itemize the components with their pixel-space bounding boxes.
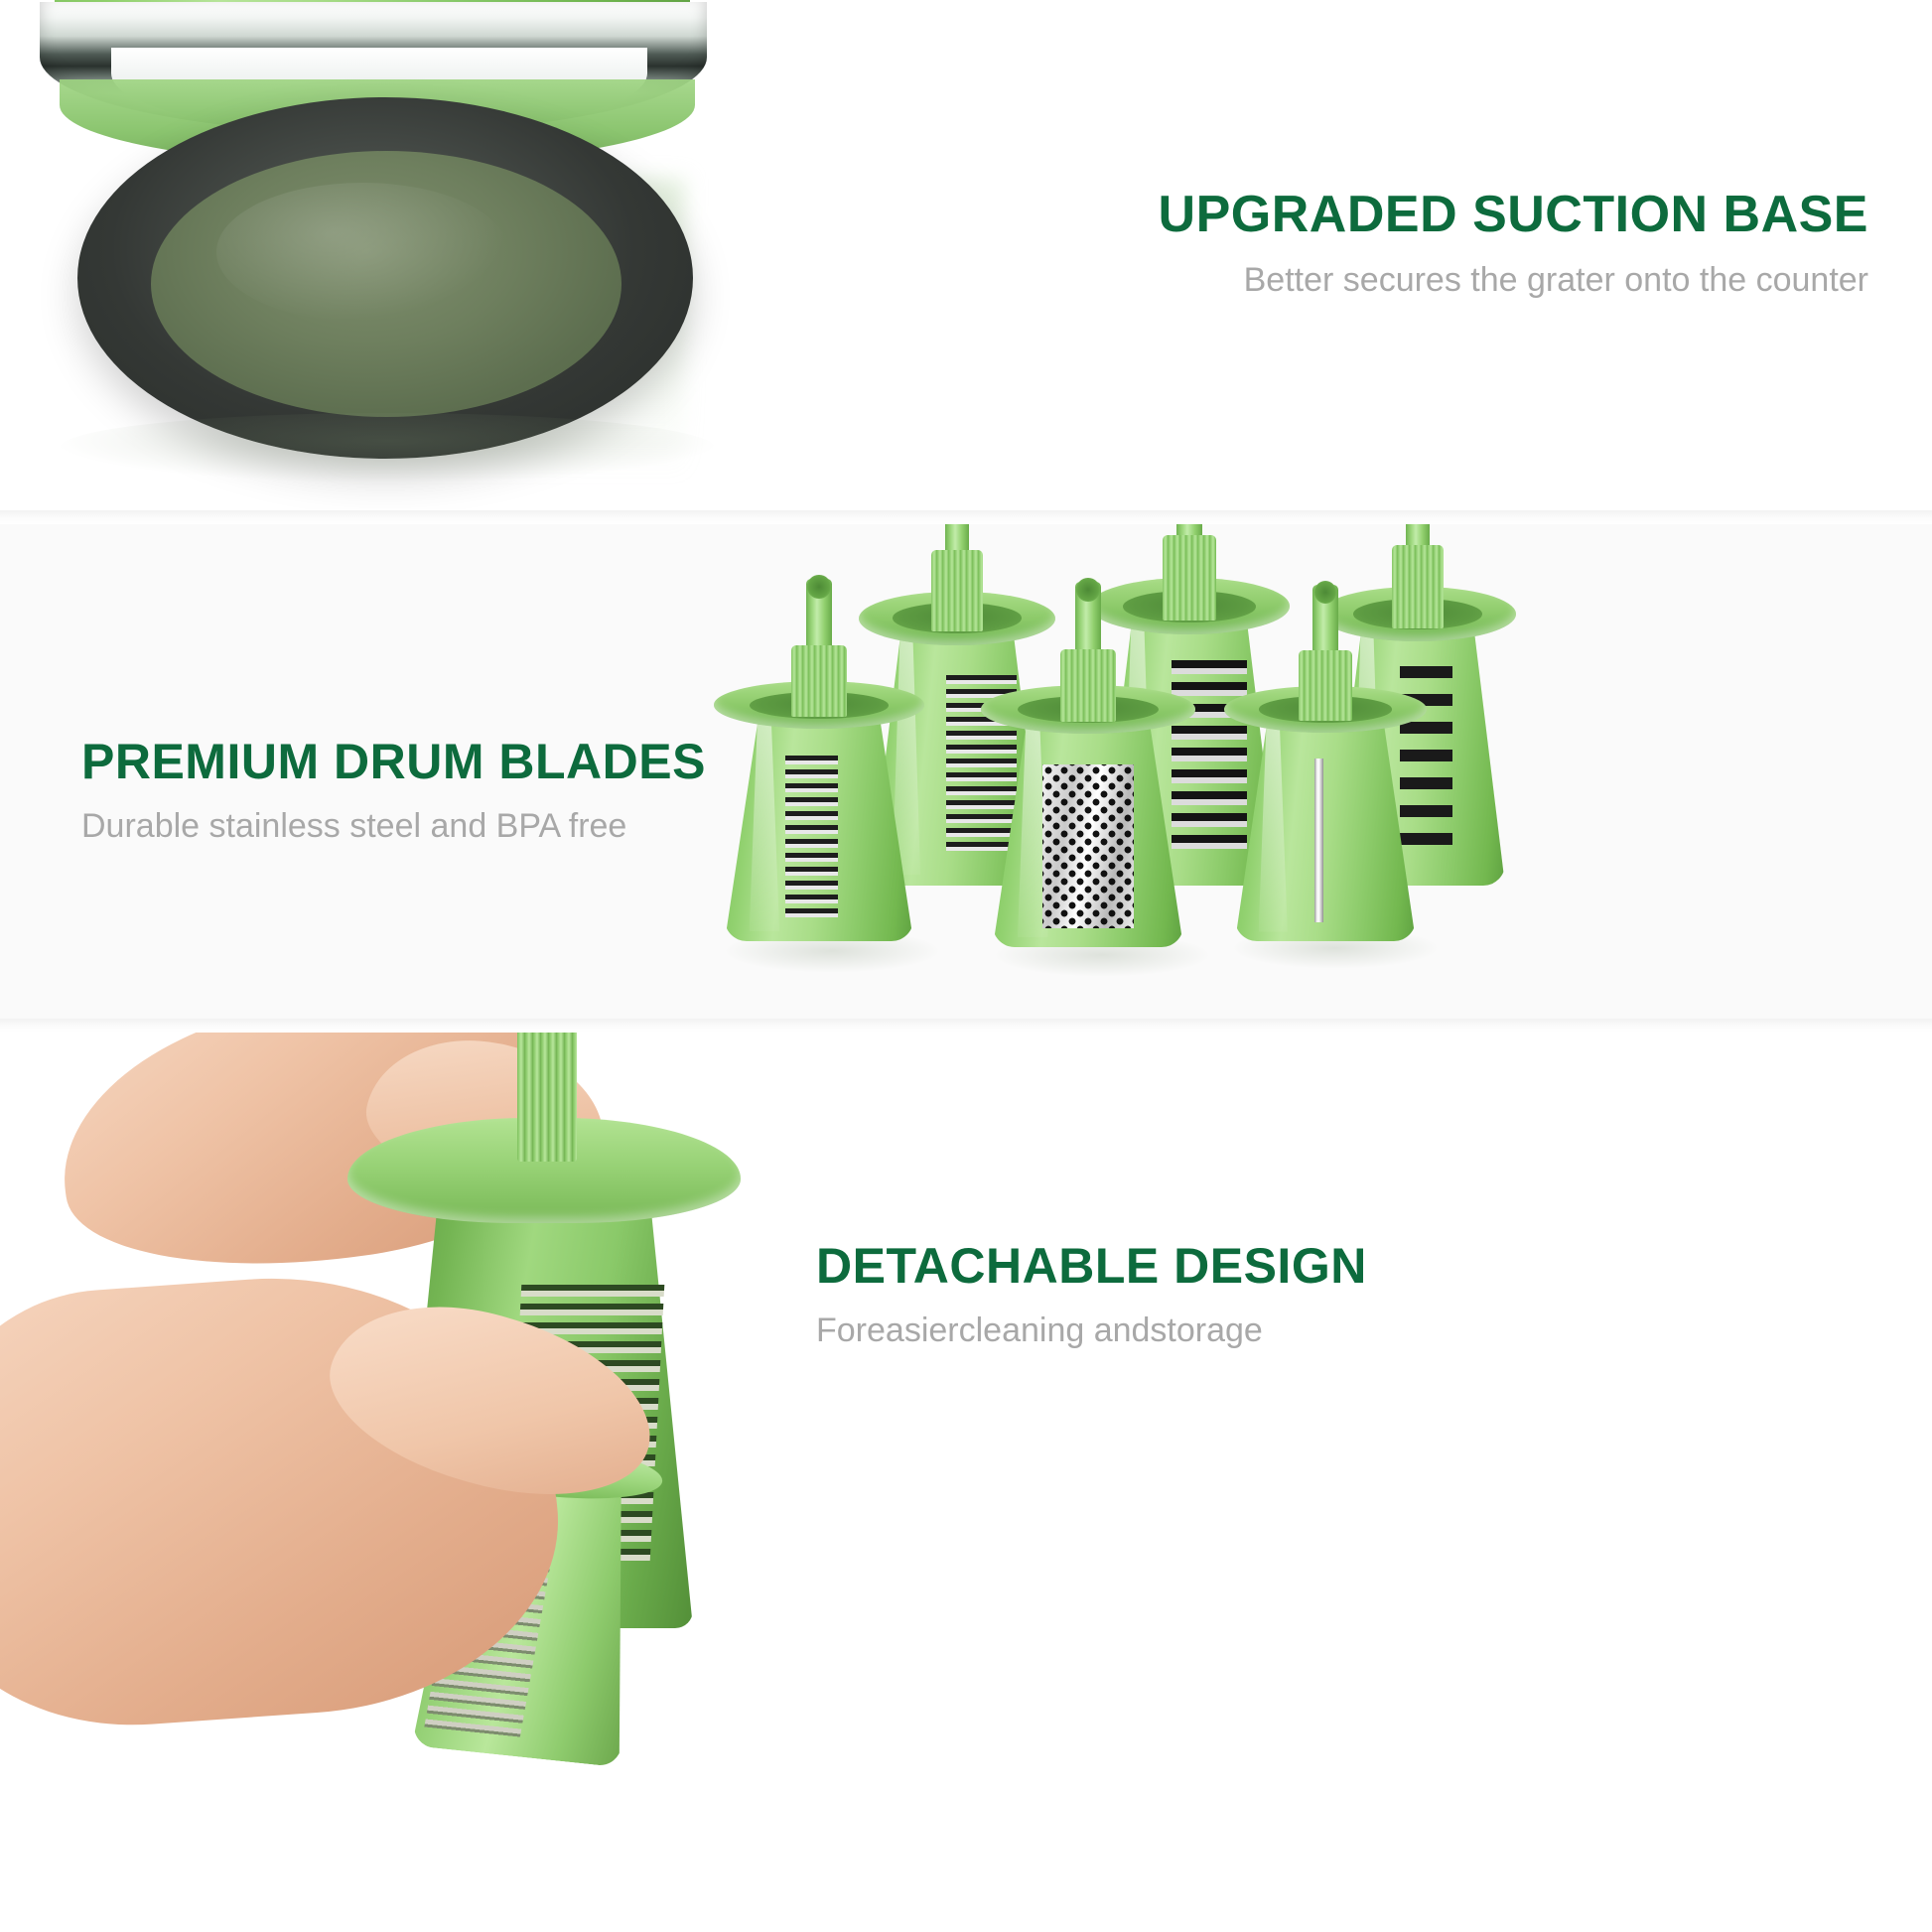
detachable-design-subline: Foreasiercleaning andstorage: [816, 1311, 1367, 1351]
section-detachable-design: DETACHABLE DESIGN Foreasiercleaning ands…: [0, 1033, 1932, 1932]
section-drum-blades: PREMIUM DRUM BLADES Durable stainless st…: [0, 524, 1932, 1033]
drum-blades-text-block: PREMIUM DRUM BLADES Durable stainless st…: [81, 737, 706, 847]
suction-base-headline: UPGRADED SUCTION BASE: [1159, 189, 1868, 240]
suction-base-subline: Better secures the grater onto the count…: [1159, 260, 1868, 301]
product-drop-shadow: [60, 413, 715, 483]
drum-stem-hub: [1176, 524, 1201, 621]
blade-face-grate: [1042, 764, 1134, 928]
detachable-design-photo: [0, 1033, 794, 1932]
section-divider-1: [0, 510, 1932, 524]
blade-face-fine: [785, 756, 838, 922]
section-divider-2: [0, 1019, 1932, 1033]
section-suction-base: UPGRADED SUCTION BASE Better secures the…: [0, 0, 1932, 524]
drum-blades-photo: [695, 524, 1932, 1033]
drum-stem-hub: [1312, 585, 1337, 721]
drum-blade-straight-slice: [1235, 707, 1416, 941]
drum-blade-fine-shred: [725, 703, 913, 941]
infographic-sheet: UPGRADED SUCTION BASE Better secures the…: [0, 0, 1932, 1932]
drum-blades-subline: Durable stainless steel and BPA free: [81, 806, 706, 847]
drum-stem-hub: [517, 1033, 577, 1162]
suction-base-text-block: UPGRADED SUCTION BASE Better secures the…: [1159, 189, 1868, 301]
drum-stem-hub: [945, 524, 970, 631]
drum-blade-grating: [993, 707, 1183, 947]
suction-base-photo: [0, 0, 755, 524]
blade-face-straight: [1314, 759, 1323, 922]
detachable-design-headline: DETACHABLE DESIGN: [816, 1241, 1367, 1291]
drum-stem-hub: [1075, 582, 1102, 721]
detachable-design-text-block: DETACHABLE DESIGN Foreasiercleaning ands…: [816, 1241, 1367, 1351]
drum-blades-headline: PREMIUM DRUM BLADES: [81, 737, 706, 786]
olive-suction-pad: [151, 151, 621, 417]
drum-stem-hub: [1406, 524, 1431, 628]
drum-cone-shape: [1235, 707, 1416, 941]
drum-stem-hub: [806, 579, 833, 717]
